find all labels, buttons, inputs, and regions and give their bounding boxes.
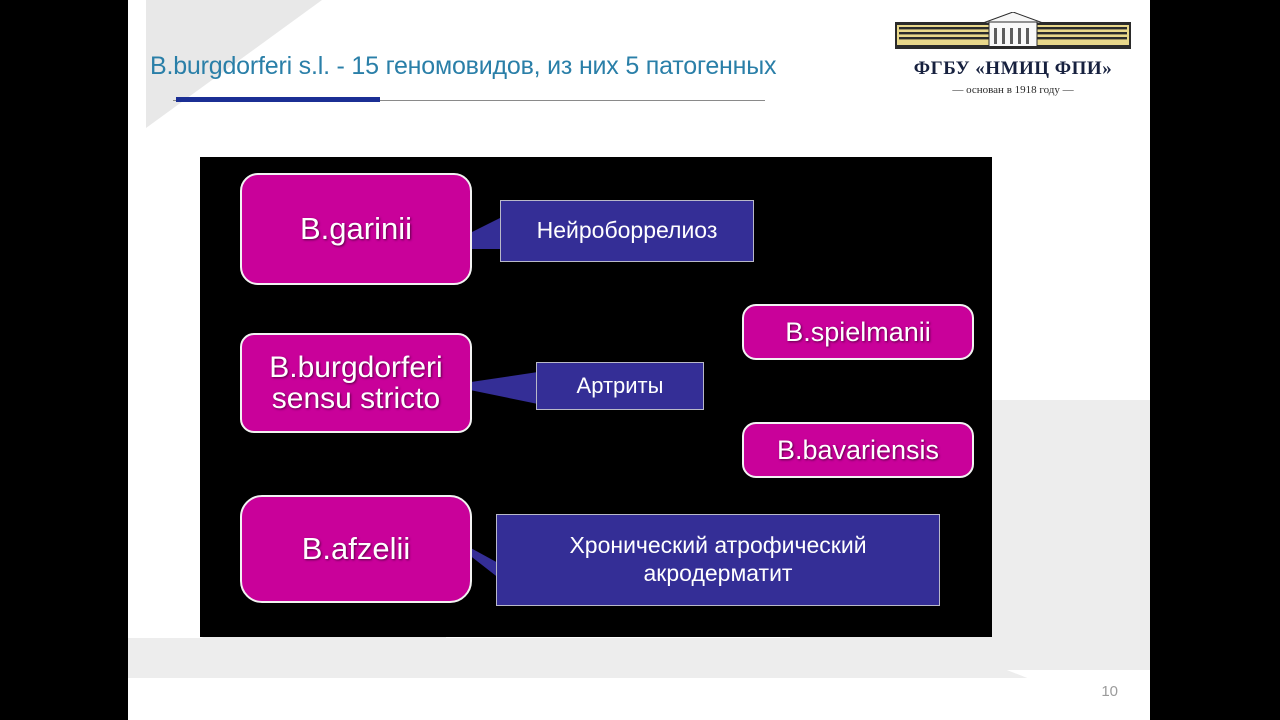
page-number: 10 [1101,683,1118,700]
page-title: B.burgdorferi s.l. - 15 геномовидов, из … [150,52,910,81]
species-box-bavariensis: B.bavariensis [742,422,974,478]
institute-building-icon [893,12,1133,54]
logo-name: ФГБУ «НМИЦ ФПИ» [893,58,1133,80]
callout-arthritis: Артриты [536,362,704,410]
organization-logo: ФГБУ «НМИЦ ФПИ» — основан в 1918 году — [893,12,1133,108]
species-box-garinii: B.garinii [240,173,472,285]
species-box-spielmanii: B.spielmanii [742,304,974,360]
screen: B.burgdorferi s.l. - 15 геномовидов, из … [0,0,1280,720]
slide: B.burgdorferi s.l. - 15 геномовидов, из … [128,0,1150,720]
species-box-burgdorferi: B.burgdorferi sensu stricto [240,333,472,433]
logo-subtitle: — основан в 1918 году — [893,84,1133,96]
species-box-afzelii: B.afzelii [240,495,472,603]
title-rule-accent [176,97,380,102]
callout-neuroborreliosis: Нейроборрелиоз [500,200,754,262]
diagram-canvas: B.garinii B.burgdorferi sensu stricto B.… [200,157,992,637]
callout-acrodermatitis: Хронический атрофический акродерматит [496,514,940,606]
